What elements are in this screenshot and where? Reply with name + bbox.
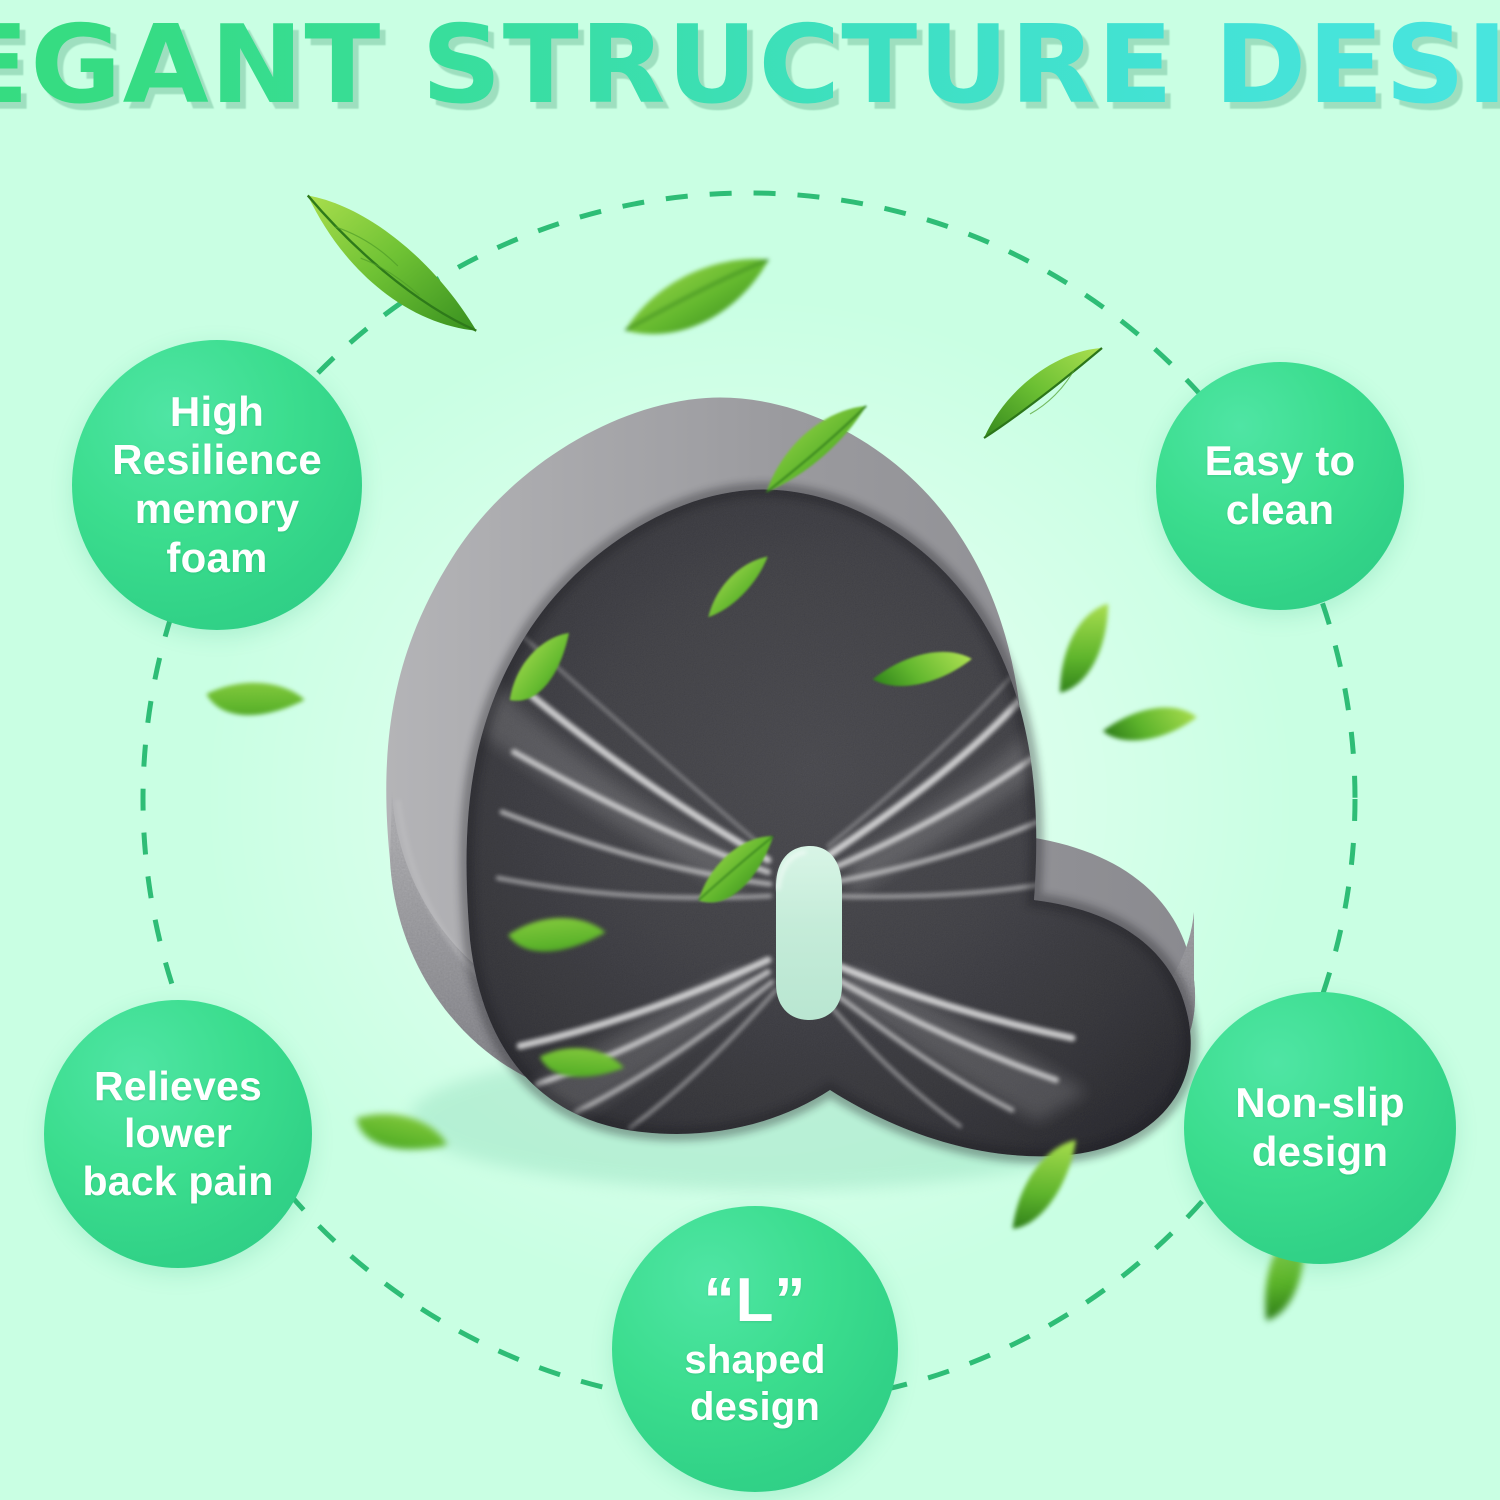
bubble-relieves-lower-back-pain[interactable]: Relieves lower back pain bbox=[44, 1000, 312, 1268]
coccyx-cutout bbox=[776, 846, 842, 1020]
product-image bbox=[270, 300, 1230, 1200]
bubble-line: design bbox=[1235, 1128, 1405, 1177]
bubble-easy-to-clean[interactable]: Easy to clean bbox=[1156, 362, 1404, 610]
bubble-line: Relieves bbox=[83, 1063, 274, 1111]
bubble-line: shaped bbox=[684, 1337, 825, 1383]
bubble-line: High bbox=[112, 388, 322, 437]
bubble-line: back pain bbox=[83, 1158, 274, 1206]
product-infographic-poster: ELEGANT STRUCTURE DESIGN bbox=[0, 0, 1500, 1500]
bubble-line: clean bbox=[1205, 486, 1356, 535]
headline-container: ELEGANT STRUCTURE DESIGN bbox=[0, 6, 1500, 124]
bubble-line: Resilience bbox=[112, 436, 322, 485]
bubble-non-slip-design[interactable]: Non-slip design bbox=[1184, 992, 1456, 1264]
page-title: ELEGANT STRUCTURE DESIGN bbox=[0, 11, 1500, 119]
bubble-l-shaped-design[interactable]: “L” shaped design bbox=[612, 1206, 898, 1492]
bubble-line: lower bbox=[83, 1110, 274, 1158]
bubble-high-resilience-memory-foam[interactable]: High Resilience memory foam bbox=[72, 340, 362, 630]
bubble-line: Easy to bbox=[1205, 437, 1356, 486]
product-top-surface bbox=[467, 490, 1191, 1157]
bubble-line: foam bbox=[112, 534, 322, 583]
bubble-line: design bbox=[684, 1384, 825, 1430]
bubble-line: Non-slip bbox=[1235, 1079, 1405, 1128]
bubble-emphasis-letter: “L” bbox=[684, 1268, 825, 1333]
bubble-line: memory bbox=[112, 485, 322, 534]
